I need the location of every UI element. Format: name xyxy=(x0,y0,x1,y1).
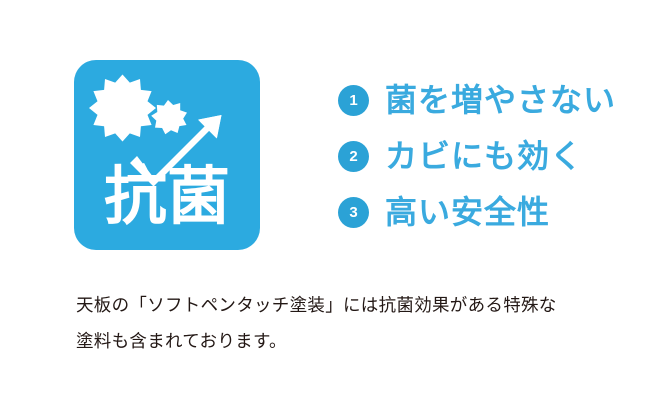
feature-item-1: 1 菌を増やさない xyxy=(338,72,638,128)
germ-large-icon xyxy=(89,75,156,142)
feature-number-badge-1: 1 xyxy=(338,85,369,116)
feature-number-badge-2: 2 xyxy=(338,141,369,172)
feature-label-1: 菌を増やさない xyxy=(385,83,616,117)
feature-item-2: 2 カビにも効く xyxy=(338,128,638,184)
badge-and-features-section: 抗菌 1 菌を増やさない 2 カビにも効く 3 高い安全性 xyxy=(0,0,664,270)
feature-item-3: 3 高い安全性 xyxy=(338,184,638,240)
description-line-2: 塗料も含まれております。 xyxy=(76,324,616,360)
badge-label: 抗菌 xyxy=(74,160,260,234)
feature-label-2: カビにも効く xyxy=(385,139,583,173)
antibacterial-badge: 抗菌 xyxy=(74,60,260,250)
feature-label-3: 高い安全性 xyxy=(385,195,550,229)
germ-small-icon xyxy=(151,100,187,134)
description-paragraph: 天板の「ソフトペンタッチ塗装」には抗菌効果がある特殊な 塗料も含まれております。 xyxy=(76,288,616,360)
feature-number-badge-3: 3 xyxy=(338,197,369,228)
feature-list: 1 菌を増やさない 2 カビにも効く 3 高い安全性 xyxy=(338,72,638,240)
description-line-1: 天板の「ソフトペンタッチ塗装」には抗菌効果がある特殊な xyxy=(76,288,616,324)
antibacterial-infographic: 抗菌 1 菌を増やさない 2 カビにも効く 3 高い安全性 天板の「ソフトペンタ… xyxy=(0,0,664,411)
